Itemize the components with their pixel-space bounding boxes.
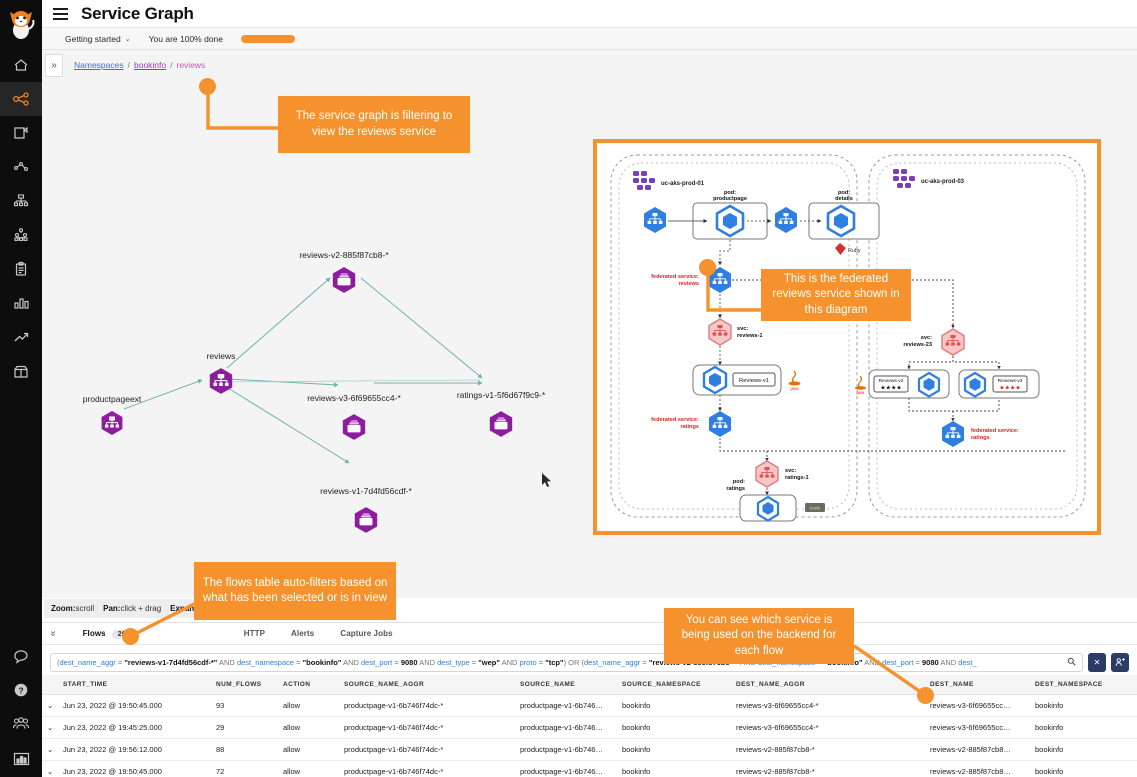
pan-label: Pan: bbox=[103, 604, 120, 613]
sidebar-item-policies[interactable] bbox=[0, 116, 42, 150]
query-token: "reviews-v1-7d4fd56cdf-*" bbox=[124, 658, 217, 667]
svg-text:svc:: svc: bbox=[921, 335, 932, 341]
annotation-dot-1 bbox=[199, 78, 216, 95]
table-row[interactable]: ⌄Jun 23, 2022 @ 19:56:12.00088allowprodu… bbox=[42, 739, 1137, 761]
replicaset-node-icon bbox=[340, 413, 368, 441]
cell-source-namespace: bookinfo bbox=[617, 717, 731, 739]
chart-bars-icon bbox=[13, 751, 30, 766]
federated-service-ratings-icon bbox=[709, 411, 731, 437]
sidebar-item-metrics[interactable] bbox=[0, 741, 42, 775]
svg-text:productpage: productpage bbox=[713, 196, 747, 202]
svc-ratings-1-icon bbox=[756, 461, 778, 487]
column-header[interactable]: NUM_FLOWS bbox=[211, 675, 278, 695]
cell-dest-name-aggr: reviews-v2-885f87cb8-* bbox=[731, 739, 925, 761]
annotation-callout-2: This is the federated reviews service sh… bbox=[761, 269, 911, 321]
cell-dest-name-aggr: reviews-v3-6f69655cc4-* bbox=[731, 717, 925, 739]
cell-dest-namespace: bookinfo bbox=[1030, 695, 1137, 717]
replicaset-node-icon bbox=[487, 410, 515, 438]
collapse-flows-icon[interactable]: » bbox=[47, 631, 58, 637]
breadcrumb-item-bookinfo[interactable]: bookinfo bbox=[134, 60, 166, 70]
table-body: ⌄Jun 23, 2022 @ 19:50:45.00093allowprodu… bbox=[42, 695, 1137, 777]
cell-source-name-aggr: productpage-v1-6b746f74dc-* bbox=[339, 739, 515, 761]
svg-text:svc:: svc: bbox=[785, 468, 796, 474]
svg-text:Reviews-v1: Reviews-v1 bbox=[739, 378, 769, 384]
svg-text:?: ? bbox=[18, 685, 23, 695]
query-token: AND bbox=[500, 658, 520, 667]
cell-num-flows: 29 bbox=[211, 717, 278, 739]
table-header-row: START_TIMENUM_FLOWSACTIONSOURCE_NAME_AGG… bbox=[42, 675, 1137, 695]
query-token: = bbox=[294, 658, 303, 667]
svg-text:ratings: ratings bbox=[971, 435, 990, 441]
page-title: Service Graph bbox=[81, 4, 194, 24]
query-token: 9080 bbox=[401, 658, 418, 667]
svg-text:federated service:: federated service: bbox=[971, 428, 1019, 434]
tab-capture-jobs[interactable]: Capture Jobs bbox=[327, 629, 405, 638]
query-token: dest_port bbox=[361, 658, 392, 667]
sidebar-item-help[interactable]: ? bbox=[0, 673, 42, 707]
annotation-text: This is the federated reviews service sh… bbox=[769, 272, 903, 318]
architecture-diagram: uc-aks-prod-01 uc-aks-prod-03 pod: produ… bbox=[597, 143, 1097, 531]
query-token: dest_name_aggr bbox=[584, 658, 640, 667]
cell-action: allow bbox=[278, 717, 339, 739]
graph-node-label: reviews bbox=[207, 351, 236, 361]
breadcrumb-item-reviews: reviews bbox=[177, 60, 206, 70]
graph-node-label: reviews-v3-6f69655cc4-* bbox=[307, 393, 401, 403]
sidebar-item-compliance[interactable] bbox=[0, 252, 42, 286]
row-expand-icon[interactable]: ⌄ bbox=[42, 739, 58, 761]
column-header[interactable]: SOURCE_NAME_AGGR bbox=[339, 675, 515, 695]
graph-node-label: reviews-v1-7d4fd56cdf-* bbox=[320, 486, 412, 496]
svg-text:ratings: ratings bbox=[726, 486, 745, 492]
svg-text:details: details bbox=[835, 196, 853, 202]
svg-text:node: node bbox=[810, 506, 821, 512]
service-node-icon bbox=[99, 410, 125, 436]
svg-text:java: java bbox=[789, 386, 799, 391]
query-token: dest_namespace bbox=[237, 658, 294, 667]
flows-table: START_TIMENUM_FLOWSACTIONSOURCE_NAME_AGG… bbox=[42, 675, 1137, 777]
getting-started-progress-bar bbox=[241, 35, 295, 43]
cell-source-name: productpage-v1-6b746… bbox=[515, 717, 617, 739]
query-token: dest_ bbox=[958, 658, 976, 667]
k8s-service-icon bbox=[775, 207, 797, 233]
top-bar: Service Graph bbox=[42, 0, 1137, 28]
table-row[interactable]: ⌄Jun 23, 2022 @ 19:50:45.00093allowprodu… bbox=[42, 695, 1137, 717]
query-token: "wep" bbox=[478, 658, 500, 667]
annotation-dot-2 bbox=[699, 259, 716, 276]
query-token: AND bbox=[418, 658, 438, 667]
zoom-label: Zoom: bbox=[51, 604, 75, 613]
svg-text:ratings: ratings bbox=[680, 424, 699, 430]
row-expand-icon[interactable]: ⌄ bbox=[42, 717, 58, 739]
annotation-callout-3: The flows table auto-filters based on wh… bbox=[194, 562, 396, 620]
cell-start-time: Jun 23, 2022 @ 19:50:45.000 bbox=[58, 695, 211, 717]
cell-num-flows: 72 bbox=[211, 761, 278, 777]
breadcrumb: Namespaces / bookinfo / reviews bbox=[74, 60, 205, 70]
sidebar-item-home[interactable] bbox=[0, 48, 42, 82]
query-token: AND bbox=[217, 658, 237, 667]
query-token: dest_name_aggr bbox=[60, 658, 116, 667]
cell-start-time: Jun 23, 2022 @ 19:50:45.000 bbox=[58, 761, 211, 777]
sidebar-item-service-graph[interactable] bbox=[0, 82, 42, 116]
query-token: proto bbox=[520, 658, 537, 667]
svg-text:svc:: svc: bbox=[737, 326, 748, 332]
clear-query-button[interactable]: ✕ bbox=[1088, 653, 1106, 672]
cell-source-name: productpage-v1-6b746… bbox=[515, 695, 617, 717]
getting-started-progress-text: You are 100% done bbox=[149, 34, 223, 44]
column-header[interactable]: START_TIME bbox=[58, 675, 211, 695]
breadcrumb-separator: / bbox=[170, 60, 172, 70]
cell-dest-name: reviews-v2-885f87cb8… bbox=[925, 739, 1030, 761]
trend-up-icon bbox=[13, 330, 30, 344]
graph-node-label: productpageext bbox=[83, 394, 142, 404]
cell-source-name-aggr: productpage-v1-6b746f74dc-* bbox=[339, 695, 515, 717]
graph-node-reviews-v3[interactable]: reviews-v3-6f69655cc4-* bbox=[340, 413, 368, 446]
svg-text:★★★★: ★★★★ bbox=[880, 385, 902, 392]
annotation-callout-4: You can see which service is being used … bbox=[664, 608, 854, 664]
column-header[interactable]: DEST_NAMESPACE bbox=[1030, 675, 1137, 695]
query-token: AND bbox=[341, 658, 361, 667]
sidebar-item-support-chat[interactable] bbox=[0, 639, 42, 673]
zoom-value: scroll bbox=[75, 604, 94, 613]
svg-text:Ruby: Ruby bbox=[848, 248, 861, 254]
clipboard-icon bbox=[13, 261, 29, 277]
users-icon bbox=[12, 717, 30, 731]
cell-start-time: Jun 23, 2022 @ 19:45:25.000 bbox=[58, 717, 211, 739]
left-sidebar: ? bbox=[0, 0, 42, 777]
network-sets-icon bbox=[13, 227, 29, 243]
svg-text:java: java bbox=[856, 390, 865, 395]
annotation-text: The flows table auto-filters based on wh… bbox=[202, 576, 388, 606]
cell-dest-namespace: bookinfo bbox=[1030, 717, 1137, 739]
k8s-service-icon bbox=[644, 207, 666, 233]
cell-dest-namespace: bookinfo bbox=[1030, 761, 1137, 777]
getting-started-label: Getting started bbox=[65, 34, 121, 44]
row-expand-icon[interactable]: ⌄ bbox=[42, 761, 58, 777]
cell-action: allow bbox=[278, 739, 339, 761]
svc-reviews-23-icon bbox=[942, 329, 964, 355]
query-token: = bbox=[640, 658, 649, 667]
annotation-leader-1 bbox=[200, 86, 290, 146]
service-graph-icon bbox=[12, 91, 30, 107]
svg-text:ratings-1: ratings-1 bbox=[785, 475, 809, 481]
annotation-callout-1: The service graph is filtering to view t… bbox=[278, 96, 470, 153]
query-token: = bbox=[470, 658, 479, 667]
table-row[interactable]: ⌄Jun 23, 2022 @ 19:45:25.00029allowprodu… bbox=[42, 717, 1137, 739]
federated-service-ratings-right-icon bbox=[942, 421, 964, 447]
annotation-text: The service graph is filtering to view t… bbox=[286, 109, 462, 139]
breadcrumb-separator: / bbox=[128, 60, 130, 70]
svg-text:federated service:: federated service: bbox=[651, 274, 699, 280]
tab-alerts[interactable]: Alerts bbox=[278, 629, 327, 638]
cell-dest-namespace: bookinfo bbox=[1030, 739, 1137, 761]
sidebar-item-image-assurance[interactable] bbox=[0, 354, 42, 388]
cell-source-namespace: bookinfo bbox=[617, 695, 731, 717]
row-expand-icon[interactable]: ⌄ bbox=[42, 695, 58, 717]
getting-started-bar: Getting started ⌄ You are 100% done bbox=[42, 28, 1137, 50]
cell-start-time: Jun 23, 2022 @ 19:56:12.000 bbox=[58, 739, 211, 761]
annotation-dot-3 bbox=[122, 628, 139, 645]
svg-text:federated service:: federated service: bbox=[651, 417, 699, 423]
getting-started-dropdown[interactable]: Getting started ⌄ bbox=[65, 34, 131, 44]
query-token: ) OR ( bbox=[564, 658, 584, 667]
graph-node-reviews-v2[interactable]: reviews-v2-885f87cb8-* bbox=[330, 266, 358, 299]
query-token: = bbox=[392, 658, 401, 667]
sidebar-item-endpoints[interactable] bbox=[0, 184, 42, 218]
nodes-icon bbox=[13, 159, 29, 175]
policy-board-icon bbox=[13, 125, 29, 141]
query-token: "bookinfo" bbox=[303, 658, 342, 667]
query-token: dest_type bbox=[437, 658, 470, 667]
hamburger-icon[interactable] bbox=[51, 6, 70, 22]
service-node-icon bbox=[207, 367, 235, 395]
graph-node-reviews-v1[interactable]: reviews-v1-7d4fd56cdf-* bbox=[352, 506, 380, 539]
svg-text:uc-aks-prod-03: uc-aks-prod-03 bbox=[921, 179, 965, 185]
zoom-hint: Zoom:scroll bbox=[51, 604, 94, 613]
home-icon bbox=[13, 57, 29, 73]
sidebar-item-nodes[interactable] bbox=[0, 150, 42, 184]
annotation-leader-4 bbox=[845, 645, 955, 701]
cell-dest-name: reviews-v2-885f87cb8… bbox=[925, 761, 1030, 777]
cell-source-name-aggr: productpage-v1-6b746f74dc-* bbox=[339, 761, 515, 777]
tigera-cat-logo[interactable] bbox=[0, 0, 42, 48]
svg-text:reviews: reviews bbox=[678, 281, 699, 287]
sidebar-item-users[interactable] bbox=[0, 707, 42, 741]
annotation-dot-4 bbox=[917, 687, 934, 704]
graph-node-reviews[interactable]: reviews bbox=[207, 367, 235, 400]
breadcrumb-row: » Namespaces / bookinfo / reviews bbox=[42, 50, 1137, 80]
cell-num-flows: 88 bbox=[211, 739, 278, 761]
expand-col-header bbox=[42, 675, 58, 695]
box-icon bbox=[13, 364, 29, 379]
replicaset-node-icon bbox=[352, 506, 380, 534]
svg-text:pod:: pod: bbox=[733, 479, 745, 485]
sidebar-item-dashboards[interactable] bbox=[0, 286, 42, 320]
cell-source-namespace: bookinfo bbox=[617, 761, 731, 777]
svg-text:Reviews-v3: Reviews-v3 bbox=[998, 378, 1023, 384]
cluster-icon bbox=[893, 169, 915, 188]
cluster-icon bbox=[633, 171, 655, 190]
cell-num-flows: 93 bbox=[211, 695, 278, 717]
cell-dest-name: reviews-v3-6f69655cc… bbox=[925, 717, 1030, 739]
svg-text:reviews-23: reviews-23 bbox=[903, 342, 932, 348]
svg-text:★★★★: ★★★★ bbox=[999, 385, 1021, 392]
sidebar-item-timeline[interactable] bbox=[0, 320, 42, 354]
graph-node-label: ratings-v1-5f6d67f9c9-* bbox=[457, 390, 545, 400]
flows-panel: » Flows20 HTTP Alerts Capture Jobs (dest… bbox=[42, 622, 1137, 777]
sidebar-item-network-sets[interactable] bbox=[0, 218, 42, 252]
bar-chart-icon bbox=[13, 295, 30, 311]
expand-panel-button[interactable]: » bbox=[45, 54, 63, 77]
magnifier-icon[interactable] bbox=[1067, 657, 1076, 668]
cell-action: allow bbox=[278, 695, 339, 717]
graph-node-productpageext[interactable]: productpageext bbox=[99, 410, 125, 441]
query-token: "tcp" bbox=[545, 658, 563, 667]
query-bar: (dest_name_aggr = "reviews-v1-7d4fd56cdf… bbox=[42, 649, 1137, 675]
graph-node-label: reviews-v2-885f87cb8-* bbox=[299, 250, 388, 260]
replicaset-node-icon bbox=[330, 266, 358, 294]
graph-node-ratings-v1[interactable]: ratings-v1-5f6d67f9c9-* bbox=[487, 410, 515, 443]
chevron-down-icon: ⌄ bbox=[125, 35, 131, 43]
breadcrumb-item-namespaces[interactable]: Namespaces bbox=[74, 60, 124, 70]
chat-bubble-icon bbox=[13, 649, 30, 664]
architecture-diagram-panel: uc-aks-prod-01 uc-aks-prod-03 pod: produ… bbox=[593, 139, 1101, 535]
cell-source-name: productpage-v1-6b746… bbox=[515, 739, 617, 761]
svg-text:reviews-1: reviews-1 bbox=[737, 333, 763, 339]
column-header[interactable]: SOURCE_NAME bbox=[515, 675, 617, 695]
save-filter-button[interactable] bbox=[1111, 653, 1129, 672]
cell-source-name-aggr: productpage-v1-6b746f74dc-* bbox=[339, 717, 515, 739]
query-token: = bbox=[537, 658, 546, 667]
question-circle-icon: ? bbox=[13, 682, 29, 698]
column-header[interactable]: SOURCE_NAMESPACE bbox=[617, 675, 731, 695]
cell-dest-name-aggr: reviews-v2-885f87cb8-* bbox=[731, 761, 925, 777]
svg-text:uc-aks-prod-01: uc-aks-prod-01 bbox=[661, 181, 705, 187]
column-header[interactable]: ACTION bbox=[278, 675, 339, 695]
cell-source-name: productpage-v1-6b746… bbox=[515, 761, 617, 777]
tab-http[interactable]: HTTP bbox=[231, 629, 278, 638]
java-badge: java bbox=[789, 371, 801, 391]
annotation-text: You can see which service is being used … bbox=[672, 613, 846, 659]
endpoints-icon bbox=[13, 193, 29, 209]
tab-flows-label: Flows bbox=[83, 629, 106, 638]
svg-text:Reviews-v2: Reviews-v2 bbox=[879, 378, 904, 384]
cell-source-namespace: bookinfo bbox=[617, 739, 731, 761]
mouse-pointer-icon bbox=[542, 473, 553, 493]
ruby-badge: Ruby bbox=[835, 243, 861, 255]
table-row[interactable]: ⌄Jun 23, 2022 @ 19:50:45.00072allowprodu… bbox=[42, 761, 1137, 777]
cell-action: allow bbox=[278, 761, 339, 777]
